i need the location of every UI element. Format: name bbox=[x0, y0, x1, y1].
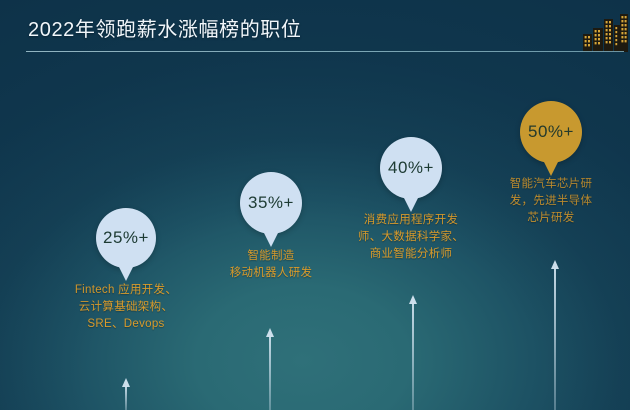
arrow-shaft bbox=[269, 336, 271, 410]
stat-group-1: 25%+ bbox=[96, 208, 156, 268]
stat-value-3: 40%+ bbox=[388, 158, 434, 178]
stat-bubble-2[interactable]: 35%+ bbox=[240, 172, 302, 234]
title-divider bbox=[26, 51, 624, 52]
slide-canvas: 2022年领跑薪水涨幅榜的职位 bbox=[0, 0, 630, 410]
stat-bubble-1[interactable]: 25%+ bbox=[96, 208, 156, 268]
growth-arrow-1 bbox=[121, 378, 130, 410]
stat-caption-3: 消费应用程序开发 师、大数据科学家、 商业智能分析师 bbox=[325, 212, 497, 263]
stat-value-2: 35%+ bbox=[248, 193, 294, 213]
stat-group-4: 50%+ bbox=[520, 101, 582, 163]
bubble-tail bbox=[117, 263, 135, 281]
stat-caption-4: 智能汽车芯片研 发，先进半导体 芯片研发 bbox=[474, 176, 628, 227]
bubble-tail bbox=[542, 158, 560, 176]
stat-group-2: 35%+ bbox=[240, 172, 302, 234]
bubble-tail bbox=[402, 194, 420, 212]
growth-arrow-3 bbox=[408, 295, 417, 410]
growth-arrow-2 bbox=[265, 328, 274, 410]
stat-bubble-3[interactable]: 40%+ bbox=[380, 137, 442, 199]
stat-caption-1: Fintech 应用开发、 云计算基础架构、 SRE、Devops bbox=[34, 282, 218, 333]
stat-value-4: 50%+ bbox=[528, 122, 574, 142]
stat-value-1: 25%+ bbox=[103, 228, 149, 248]
arrow-shaft bbox=[125, 386, 127, 410]
arrow-shaft bbox=[412, 303, 414, 410]
title-band: 2022年领跑薪水涨幅榜的职位 bbox=[0, 0, 630, 56]
stat-bubble-4[interactable]: 50%+ bbox=[520, 101, 582, 163]
stat-group-3: 40%+ bbox=[380, 137, 442, 199]
bubble-tail bbox=[262, 229, 280, 247]
growth-arrow-4 bbox=[550, 260, 559, 410]
arrow-shaft bbox=[554, 268, 556, 410]
page-title: 2022年领跑薪水涨幅榜的职位 bbox=[28, 18, 302, 42]
